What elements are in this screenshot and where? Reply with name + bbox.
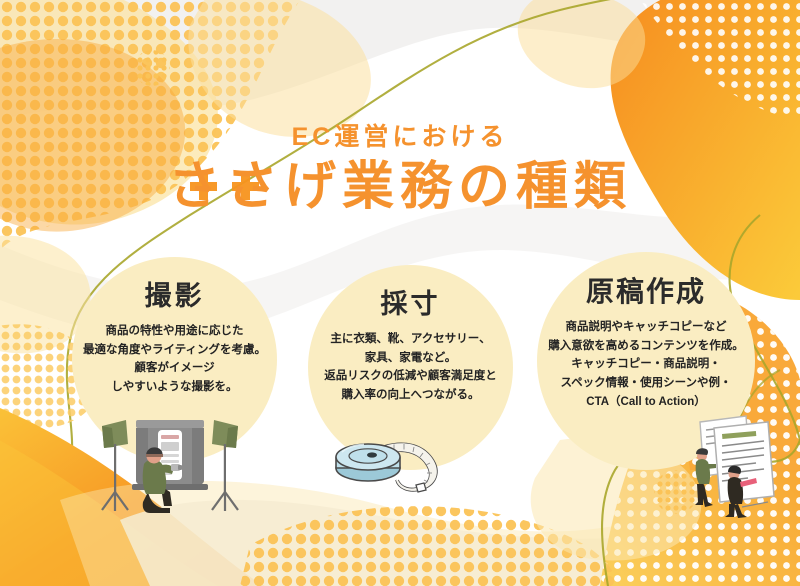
card-body: 商品の特性や用途に応じた 最適な角度やライティングを考慮。 顧客がイメージ しや…	[83, 322, 266, 397]
card-body-line: 商品説明やキャッチコピーなど	[548, 318, 744, 337]
tape-reel	[336, 444, 400, 481]
tape-measure-illustration	[332, 428, 452, 500]
blob-top-cream	[188, 0, 371, 137]
card-body-line: 最適な角度やライティングを考慮。	[83, 341, 266, 360]
card-body-line: 返品リスクの低減や顧客満足度と	[324, 367, 497, 386]
card-body-line: キャッチコピー・商品説明・	[548, 355, 744, 374]
title-block: EC運営における ささげ業務の種類	[0, 124, 800, 216]
card-body-line: 家具、家電など。	[324, 349, 497, 368]
dot-circle-topleft	[130, 46, 176, 92]
card-body: 主に衣類、靴、アクセサリー、 家具、家電など。 返品リスクの低減や顧客満足度と …	[324, 330, 497, 405]
card-body: 商品説明やキャッチコピーなど 購入意欲を高めるコンテンツを作成。 キャッチコピー…	[548, 318, 744, 411]
card-body-line: 顧客がイメージ	[83, 359, 266, 378]
card-title: 原稿作成	[586, 278, 706, 306]
softbox-right-icon	[212, 420, 238, 511]
card-title: 採寸	[381, 291, 441, 318]
page-subtitle: EC運営における	[0, 124, 800, 152]
card-title: 撮影	[145, 283, 205, 310]
card-body-line: 購入意欲を高めるコンテンツを作成。	[548, 337, 744, 356]
halftone-topright	[620, 0, 800, 140]
infographic-poster: EC運営における ささげ業務の種類 撮影 商品の特性や用途に応じた 最適な角度や…	[0, 0, 800, 586]
card-body-line: CTA（Call to Action）	[548, 393, 744, 412]
card-body-line: 主に衣類、靴、アクセサリー、	[324, 330, 497, 349]
photo-studio-illustration	[92, 414, 248, 522]
card-body-line: スペック情報・使用シーンや例・	[548, 374, 744, 393]
card-body-line: しやすいような撮影を。	[83, 378, 266, 397]
documents-illustration	[684, 412, 794, 520]
pointer-line	[742, 502, 768, 507]
document-front	[714, 422, 774, 502]
card-body-line: 商品の特性や用途に応じた	[83, 322, 266, 341]
page-title: ささげ業務の種類	[0, 158, 800, 216]
blob-topright-pale	[518, 0, 645, 88]
softbox-left-icon	[102, 420, 128, 511]
card-body-line: 購入率の向上へつながる。	[324, 386, 497, 405]
